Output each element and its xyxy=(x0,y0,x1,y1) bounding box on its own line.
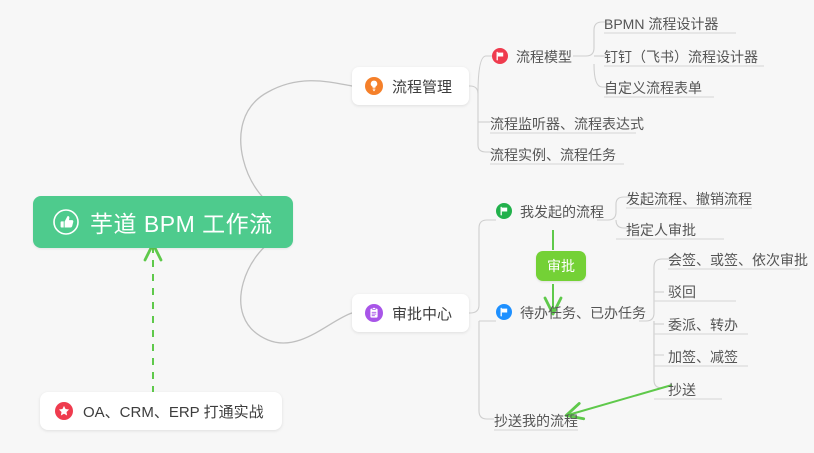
node-reject[interactable]: 驳回 xyxy=(668,279,696,303)
mindmap-canvas: 芋道 BPM 工作流 流程管理 流程模型 BPMN 流程设计器 钉钉（飞书）流程 xyxy=(0,0,814,453)
branch-node-approval-center[interactable]: 审批中心 xyxy=(352,294,469,332)
node-cc[interactable]: 抄送 xyxy=(668,377,696,401)
root-node-label: 芋道 BPM 工作流 xyxy=(90,205,273,239)
node-dingtalk-designer-label: 钉钉（飞书）流程设计器 xyxy=(604,50,758,64)
node-custom-form-label: 自定义流程表单 xyxy=(604,81,702,95)
node-cc-to-me-label: 抄送我的流程 xyxy=(494,414,578,428)
node-initiate-cancel[interactable]: 发起流程、撤销流程 xyxy=(626,186,752,210)
node-my-started-processes-label: 我发起的流程 xyxy=(520,205,604,219)
node-delegate-transfer-label: 委派、转办 xyxy=(668,318,738,332)
node-process-instance-label: 流程实例、流程任务 xyxy=(490,148,616,162)
annotation-arrow-cc-to-ccme xyxy=(568,385,672,415)
node-add-remove-sign-label: 加签、减签 xyxy=(668,350,738,364)
node-reject-label: 驳回 xyxy=(668,285,696,299)
clipboard-icon xyxy=(365,304,383,322)
node-process-instance[interactable]: 流程实例、流程任务 xyxy=(490,142,616,166)
annotation-approval-pill: 审批 xyxy=(536,251,586,281)
wire-todo-to-cc xyxy=(654,321,664,388)
wire-root-to-process-management xyxy=(241,81,352,209)
branch-node-process-management[interactable]: 流程管理 xyxy=(352,67,469,105)
callout-node-integration-label: OA、CRM、ERP 打通实战 xyxy=(83,401,264,422)
star-icon xyxy=(55,402,73,420)
node-countersign[interactable]: 会签、或签、依次审批 xyxy=(668,247,808,271)
flag-icon xyxy=(496,203,512,219)
node-process-listener-label: 流程监听器、流程表达式 xyxy=(490,117,644,131)
node-todo-done-tasks-label: 待办任务、已办任务 xyxy=(520,306,646,320)
node-my-started-processes[interactable]: 我发起的流程 xyxy=(496,199,604,223)
lightbulb-icon xyxy=(365,77,383,95)
node-process-model-label: 流程模型 xyxy=(516,50,572,64)
node-bpmn-designer[interactable]: BPMN 流程设计器 xyxy=(604,11,718,35)
node-bpmn-designer-label: BPMN 流程设计器 xyxy=(604,17,718,31)
annotation-approval-pill-label: 审批 xyxy=(547,256,575,276)
node-initiate-cancel-label: 发起流程、撤销流程 xyxy=(626,192,752,206)
node-add-remove-sign[interactable]: 加签、减签 xyxy=(668,344,738,368)
thumbs-up-icon xyxy=(53,209,79,235)
node-countersign-label: 会签、或签、依次审批 xyxy=(668,253,808,267)
node-delegate-transfer[interactable]: 委派、转办 xyxy=(668,312,738,336)
flag-icon xyxy=(496,304,512,320)
branch-node-process-management-label: 流程管理 xyxy=(392,76,452,97)
node-cc-to-me[interactable]: 抄送我的流程 xyxy=(494,408,578,432)
node-assignee-approval-label: 指定人审批 xyxy=(626,223,696,237)
flag-icon xyxy=(492,48,508,64)
node-dingtalk-designer[interactable]: 钉钉（飞书）流程设计器 xyxy=(604,44,758,68)
root-node[interactable]: 芋道 BPM 工作流 xyxy=(33,196,293,248)
node-custom-form[interactable]: 自定义流程表单 xyxy=(604,75,702,99)
node-process-model[interactable]: 流程模型 xyxy=(492,44,572,68)
node-cc-label: 抄送 xyxy=(668,383,696,397)
wire-root-to-approval-center xyxy=(241,236,352,343)
node-process-listener[interactable]: 流程监听器、流程表达式 xyxy=(490,111,644,135)
wire-todo-to-addsign xyxy=(654,321,664,355)
callout-node-integration[interactable]: OA、CRM、ERP 打通实战 xyxy=(40,392,282,430)
wire-approval-center-to-cc xyxy=(479,321,494,419)
node-assignee-approval[interactable]: 指定人审批 xyxy=(626,217,696,241)
node-todo-done-tasks[interactable]: 待办任务、已办任务 xyxy=(496,300,646,324)
branch-node-approval-center-label: 审批中心 xyxy=(392,303,452,324)
